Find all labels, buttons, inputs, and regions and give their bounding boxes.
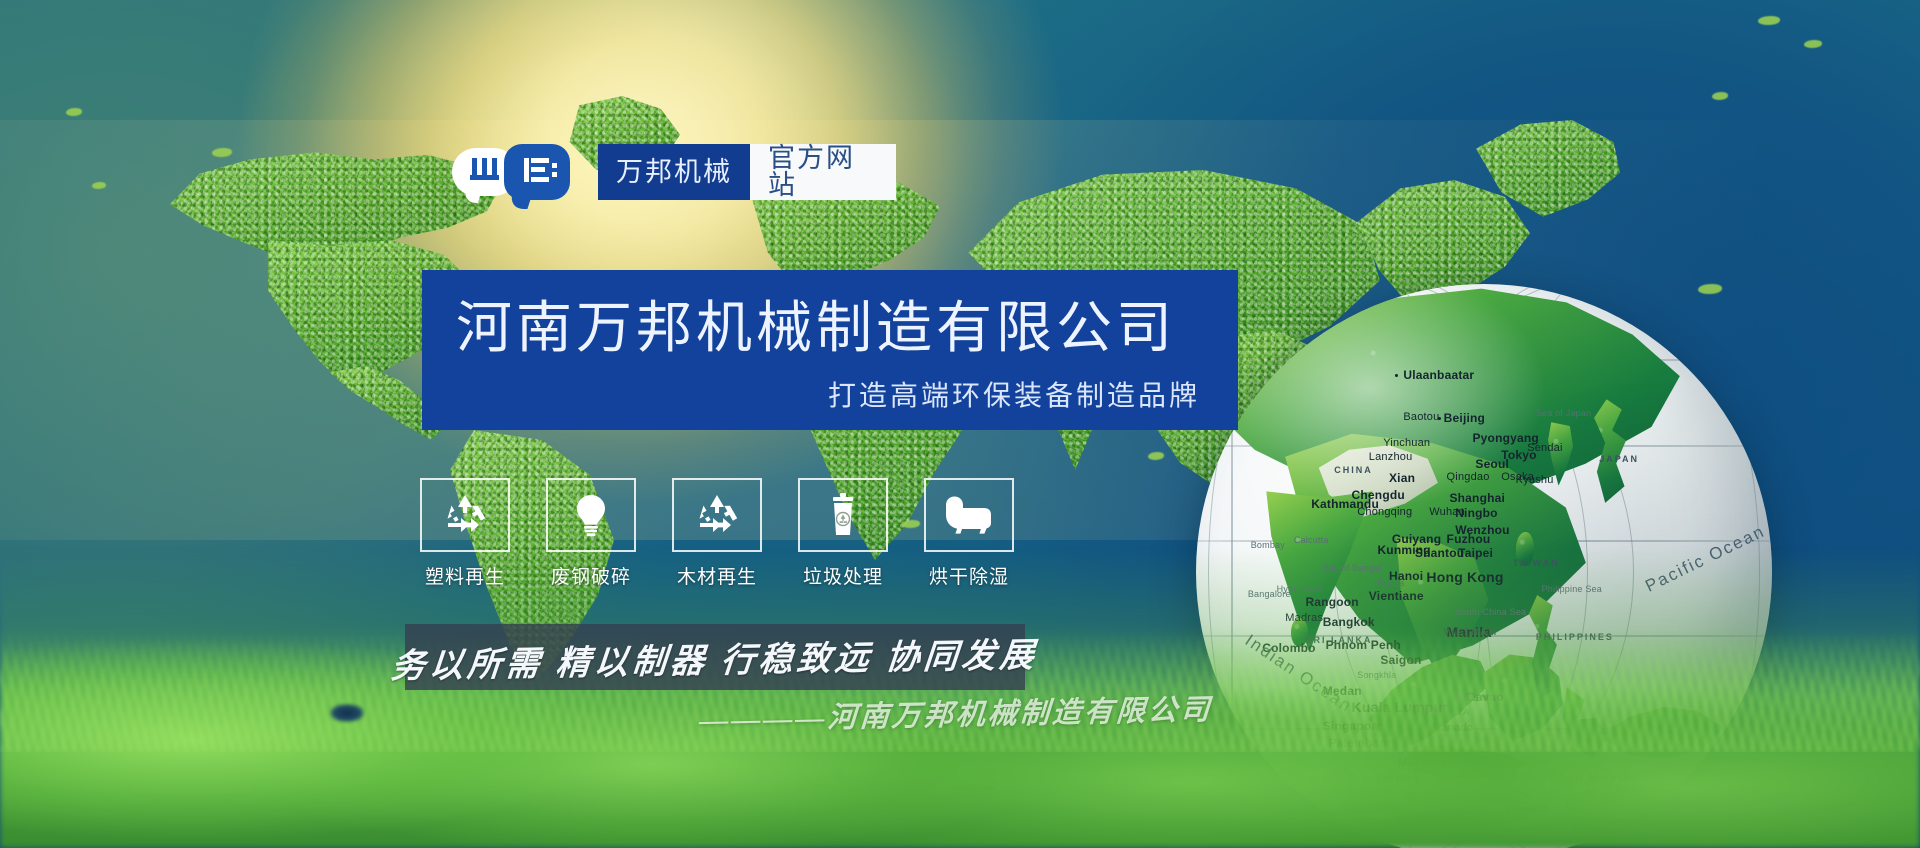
slogan-banner: 务以所需 精以制器 行稳致远 协同发展 <box>405 624 1025 690</box>
globe-label: Beijing <box>1444 411 1485 425</box>
tab-company-name[interactable]: 万邦机械 <box>598 144 750 200</box>
lightbulb-icon <box>567 491 615 539</box>
recycle-icon <box>693 491 741 539</box>
globe-label: Guiyang <box>1392 532 1441 546</box>
header-tabs: 万邦机械 官方网站 <box>598 144 896 200</box>
feature-item-steel-crushing[interactable]: 废钢破碎 <box>546 478 672 589</box>
hero-title-box: 河南万邦机械制造有限公司 打造高端环保装备制造品牌 <box>422 270 1238 430</box>
recycle-icon <box>441 491 489 539</box>
globe-label: Baotou <box>1403 411 1439 423</box>
globe-label: Kathmandu <box>1311 497 1379 511</box>
globe-label: Wuhan <box>1429 506 1465 518</box>
tab-official-site[interactable]: 官方网站 <box>750 144 896 200</box>
page-subtitle: 打造高端环保装备制造品牌 <box>456 374 1204 414</box>
globe-label: Kyushu <box>1516 474 1554 486</box>
globe-label: Xian <box>1389 471 1415 485</box>
globe-sea-label: Sea of Japan <box>1536 408 1591 418</box>
globe-label: Sendai <box>1527 442 1562 454</box>
site-header: 万邦机械 官方网站 <box>452 144 896 200</box>
trash-bin-icon <box>819 491 867 539</box>
globe-label: Calcutta <box>1294 535 1329 545</box>
feature-icon-frame <box>924 478 1014 552</box>
globe-country-label: JAPAN <box>1599 454 1639 464</box>
hero-banner: Ulaanbaatar Beijing Baotou Yinchuan Lanz… <box>0 0 1920 848</box>
globe-label: Wenzhou <box>1455 523 1510 537</box>
logo-glyphs-icon <box>452 144 570 200</box>
page-title: 河南万邦机械制造有限公司 <box>456 296 1204 360</box>
slogan-text: 务以所需 精以制器 行稳致远 协同发展 <box>390 627 1041 687</box>
grass-detail <box>330 704 364 722</box>
globe-label: Ulaanbaatar <box>1403 368 1474 382</box>
feature-label: 垃圾处理 <box>798 562 888 589</box>
feature-label: 废钢破碎 <box>546 562 636 589</box>
globe-label: Lanzhou <box>1369 451 1413 463</box>
feature-icon-frame <box>672 478 762 552</box>
globe-label: Qingdao <box>1447 471 1490 483</box>
company-logo[interactable] <box>452 144 570 200</box>
feature-item-wood-recycling[interactable]: 木材再生 <box>672 478 798 589</box>
globe-country-label: CHINA <box>1334 465 1373 475</box>
feature-icon-frame <box>546 478 636 552</box>
feature-icon-row: 塑料再生 废钢破碎 <box>420 478 1050 589</box>
globe-label: Shanghai <box>1449 491 1505 505</box>
feature-item-drying-dehumidifying[interactable]: 烘干除湿 <box>924 478 1050 589</box>
feature-item-waste-treatment[interactable]: 垃圾处理 <box>798 478 924 589</box>
feature-label: 木材再生 <box>672 562 762 589</box>
globe-label: Yinchuan <box>1383 437 1430 449</box>
feature-label: 烘干除湿 <box>924 562 1014 589</box>
feature-label: 塑料再生 <box>420 562 510 589</box>
dryer-icon <box>942 493 996 537</box>
feature-icon-frame <box>420 478 510 552</box>
feature-icon-frame <box>798 478 888 552</box>
feature-item-plastic-recycling[interactable]: 塑料再生 <box>420 478 546 589</box>
